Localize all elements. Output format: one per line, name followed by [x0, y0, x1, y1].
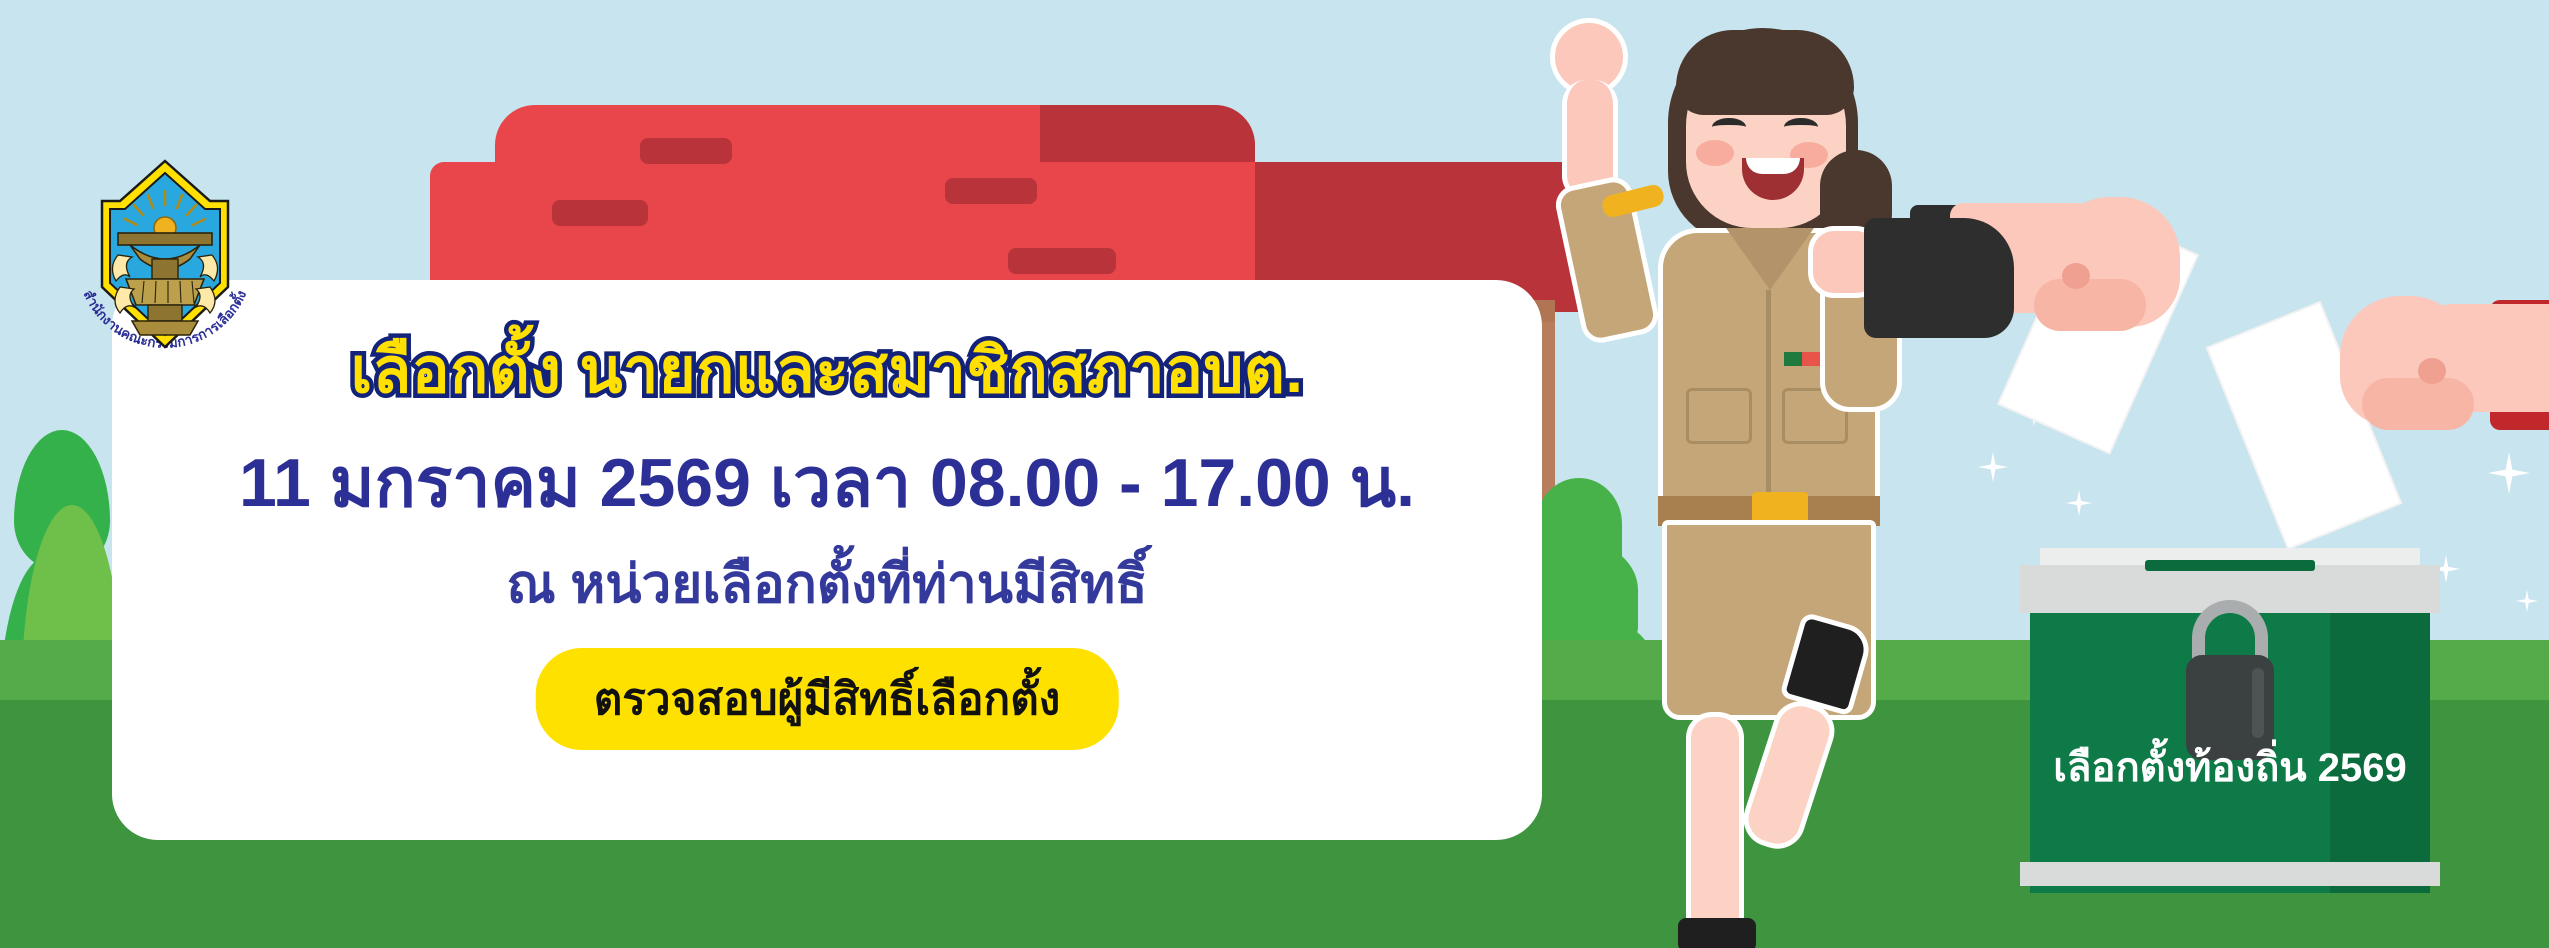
check-voter-eligibility-button[interactable]: ตรวจสอบผู้มีสิทธิ์เลือกตั้ง	[536, 648, 1119, 750]
date-time-text: 11 มกราคม 2569 เวลา 08.00 - 17.00 น.	[112, 428, 1542, 536]
roof-tile	[552, 200, 648, 226]
voting-hand	[2290, 290, 2549, 500]
cloud	[10, 40, 210, 135]
roof-tile	[640, 138, 732, 164]
headline: เลือกตั้ง นายกและสมาชิกสภาอบต.	[112, 320, 1542, 420]
info-card: เลือกตั้ง นายกและสมาชิกสภาอบต. 11 มกราคม…	[112, 280, 1542, 840]
roof-tile	[945, 178, 1037, 204]
roof-tile	[1008, 248, 1116, 274]
official-woman	[1490, 0, 2010, 948]
ect-emblem-icon: สำนักงานคณะกรรมการการเลือกตั้ง	[60, 155, 270, 370]
election-banner: เลือกตั้งท้องถิ่น 2569 สำนักงานคณะกรรมกา…	[0, 0, 2549, 948]
location-text: ณ หน่วยเลือกตั้งที่ท่านมีสิทธิ์	[112, 542, 1542, 626]
ect-logo: สำนักงานคณะกรรมการการเลือกตั้ง	[60, 155, 270, 370]
